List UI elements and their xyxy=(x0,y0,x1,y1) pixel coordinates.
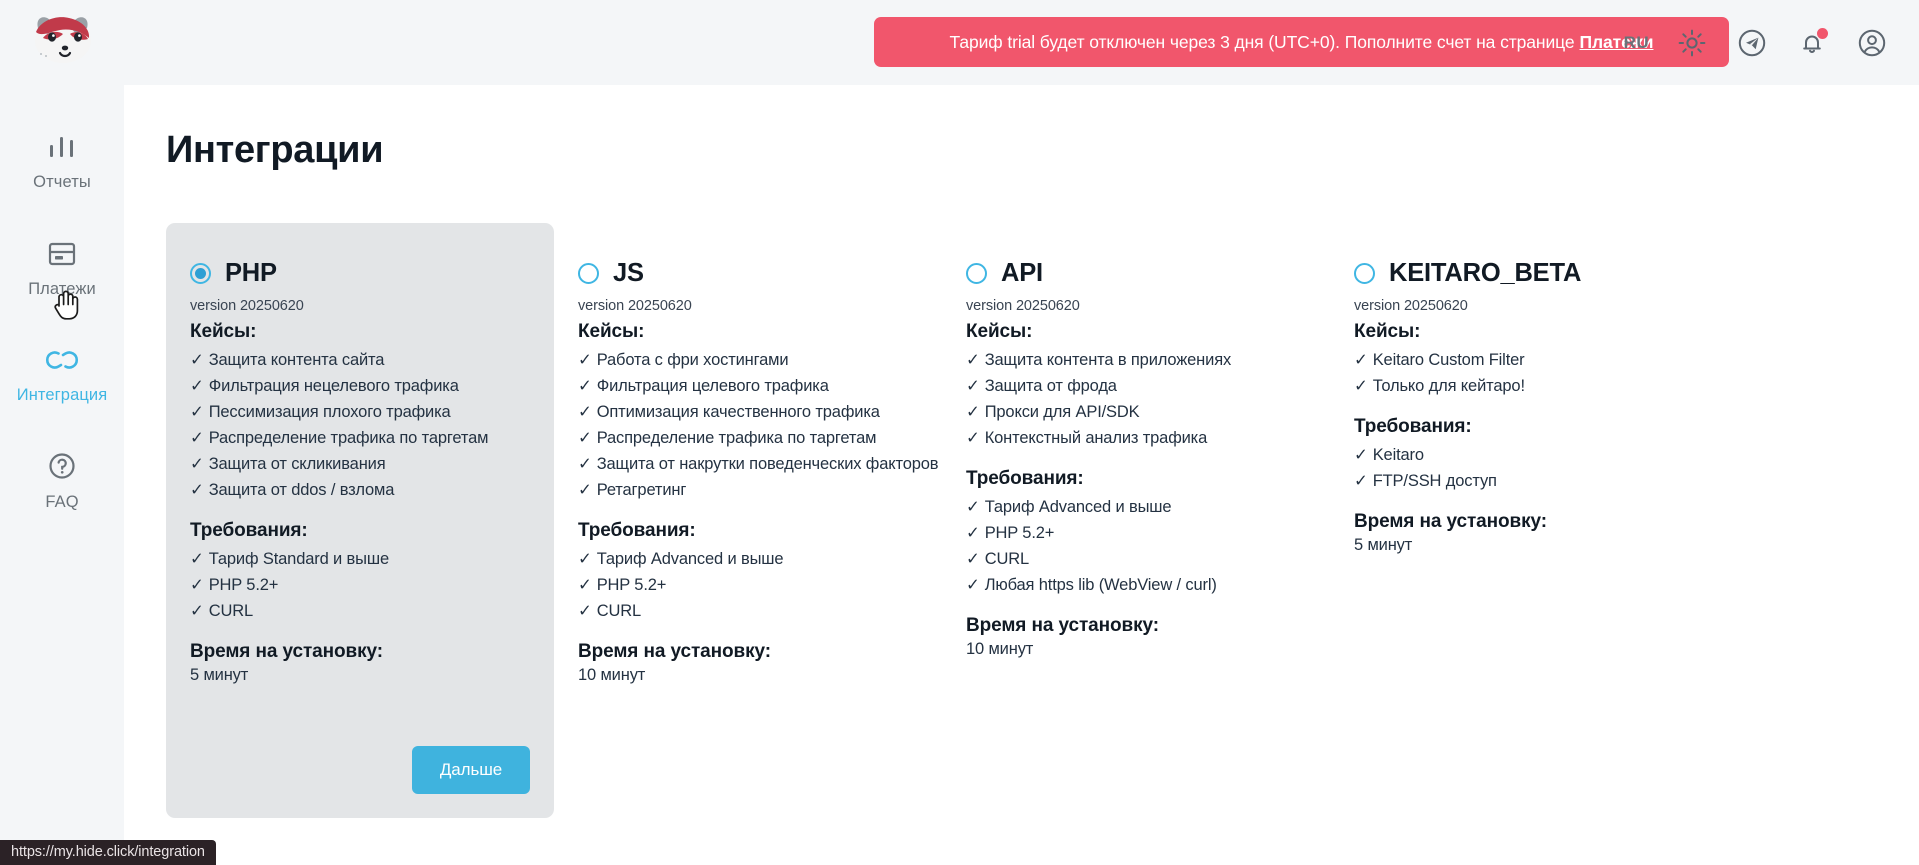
check-icon: ✓ xyxy=(578,403,592,421)
cases-list: ✓Keitaro Custom Filter ✓Только для кейта… xyxy=(1354,347,1694,399)
list-item: ✓Оптимизация качественного трафика xyxy=(578,399,918,425)
list-item: ✓Тариф Advanced и выше xyxy=(578,546,918,572)
check-icon: ✓ xyxy=(1354,351,1368,369)
install-time-heading: Время на установку: xyxy=(966,615,1306,637)
list-item: ✓Любая https lib (WebView / curl) xyxy=(966,572,1306,598)
card-title: KEITARO_BETA xyxy=(1389,259,1581,288)
check-icon: ✓ xyxy=(578,429,592,447)
raccoon-logo-icon xyxy=(27,8,97,66)
radio-js[interactable] xyxy=(578,263,599,284)
list-item: ✓PHP 5.2+ xyxy=(578,572,918,598)
sidebar-item-label: Отчеты xyxy=(33,174,91,191)
sidebar-nav: Отчеты Платежи xyxy=(0,118,124,544)
notification-badge-dot xyxy=(1817,28,1828,39)
sidebar-item-faq[interactable]: FAQ xyxy=(0,438,124,519)
bar-chart-icon xyxy=(45,128,79,166)
check-icon: ✓ xyxy=(190,576,204,594)
card-header: API xyxy=(966,259,1306,288)
application-window: Отчеты Платежи xyxy=(0,0,1919,865)
list-item: ✓PHP 5.2+ xyxy=(190,572,530,598)
check-icon: ✓ xyxy=(966,550,980,568)
list-item: ✓Keitaro Custom Filter xyxy=(1354,347,1694,373)
install-time-value: 5 минут xyxy=(1354,536,1694,555)
check-icon: ✓ xyxy=(966,524,980,542)
check-icon: ✓ xyxy=(966,377,980,395)
list-item: ✓PHP 5.2+ xyxy=(966,520,1306,546)
check-icon: ✓ xyxy=(1354,377,1368,395)
requirements-heading: Требования: xyxy=(190,520,530,542)
integration-card-js[interactable]: JS version 20250620 Кейсы: ✓Работа с фри… xyxy=(554,223,942,818)
check-icon: ✓ xyxy=(966,576,980,594)
list-item: ✓Фильтрация целевого трафика xyxy=(578,373,918,399)
sidebar-item-platezhi[interactable]: Платежи xyxy=(0,225,124,306)
list-item: ✓Тариф Standard и выше xyxy=(190,546,530,572)
check-icon: ✓ xyxy=(966,429,980,447)
language-switcher[interactable]: RU xyxy=(1624,33,1649,53)
cases-heading: Кейсы: xyxy=(966,321,1306,343)
check-icon: ✓ xyxy=(1354,446,1368,464)
integration-card-api[interactable]: API version 20250620 Кейсы: ✓Защита конт… xyxy=(942,223,1330,818)
user-account-icon[interactable] xyxy=(1855,26,1889,60)
check-icon: ✓ xyxy=(190,377,204,395)
list-item: ✓Работа с фри хостингами xyxy=(578,347,918,373)
cases-list: ✓Защита контента сайта ✓Фильтрация нецел… xyxy=(190,347,530,503)
cases-heading: Кейсы: xyxy=(190,321,530,343)
list-item: ✓Защита контента сайта xyxy=(190,347,530,373)
check-icon: ✓ xyxy=(190,455,204,473)
check-icon: ✓ xyxy=(966,403,980,421)
sidebar-item-otchety[interactable]: Отчеты xyxy=(0,118,124,199)
sidebar: Отчеты Платежи xyxy=(0,0,124,865)
card-title: JS xyxy=(613,259,644,288)
list-item: ✓Защита от фрода xyxy=(966,373,1306,399)
browser-status-bar-url: https://my.hide.click/integration xyxy=(0,840,216,865)
install-time-heading: Время на установку: xyxy=(578,641,918,663)
radio-keitaro-beta[interactable] xyxy=(1354,263,1375,284)
cases-heading: Кейсы: xyxy=(1354,321,1694,343)
list-item: ✓Пессимизация плохого трафика xyxy=(190,399,530,425)
list-item: ✓Тариф Advanced и выше xyxy=(966,494,1306,520)
requirements-list: ✓Keitaro ✓FTP/SSH доступ xyxy=(1354,442,1694,494)
list-item: ✓CURL xyxy=(190,598,530,624)
list-item: ✓Keitaro xyxy=(1354,442,1694,468)
check-icon: ✓ xyxy=(578,377,592,395)
integration-card-keitaro-beta[interactable]: KEITARO_BETA version 20250620 Кейсы: ✓Ke… xyxy=(1330,223,1718,818)
sidebar-item-label: Платежи xyxy=(28,281,96,298)
check-icon: ✓ xyxy=(966,498,980,516)
check-icon: ✓ xyxy=(190,429,204,447)
install-time-value: 5 минут xyxy=(190,666,530,685)
check-icon: ✓ xyxy=(578,576,592,594)
radio-php[interactable] xyxy=(190,263,211,284)
trial-expiry-alert[interactable]: Тариф trial будет отключен через 3 дня (… xyxy=(874,17,1729,67)
check-icon: ✓ xyxy=(578,481,592,499)
check-icon: ✓ xyxy=(190,602,204,620)
install-time-value: 10 минут xyxy=(966,640,1306,659)
list-item: ✓FTP/SSH доступ xyxy=(1354,468,1694,494)
list-item: ✓Распределение трафика по таргетам xyxy=(578,425,918,451)
brightness-sun-icon[interactable] xyxy=(1675,26,1709,60)
radio-api[interactable] xyxy=(966,263,987,284)
page-title: Интеграции xyxy=(166,129,383,172)
card-version: version 20250620 xyxy=(1354,298,1694,314)
list-item: ✓CURL xyxy=(578,598,918,624)
list-item: ✓Защита от ddos / взлома xyxy=(190,477,530,503)
notifications-bell-icon[interactable] xyxy=(1795,26,1829,60)
next-button[interactable]: Дальше xyxy=(412,746,530,794)
question-circle-icon xyxy=(45,448,79,486)
requirements-list: ✓Тариф Advanced и выше ✓PHP 5.2+ ✓CURL ✓… xyxy=(966,494,1306,598)
topbar-actions: RU xyxy=(1624,0,1889,85)
card-version: version 20250620 xyxy=(966,298,1306,314)
list-item: ✓Ретагретинг xyxy=(578,477,918,503)
list-item: ✓Защита от накрутки поведенческих фактор… xyxy=(578,451,918,477)
list-item: ✓CURL xyxy=(966,546,1306,572)
card-title: PHP xyxy=(225,259,277,288)
list-item: ✓Прокси для API/SDK xyxy=(966,399,1306,425)
card-header: PHP xyxy=(190,259,530,288)
list-item: ✓Контекстный анализ трафика xyxy=(966,425,1306,451)
check-icon: ✓ xyxy=(578,602,592,620)
install-time-heading: Время на установку: xyxy=(1354,511,1694,533)
integration-cards: PHP version 20250620 Кейсы: ✓Защита конт… xyxy=(166,223,1919,818)
card-header: JS xyxy=(578,259,918,288)
sidebar-item-label: FAQ xyxy=(45,494,78,511)
integration-card-php[interactable]: PHP version 20250620 Кейсы: ✓Защита конт… xyxy=(166,223,554,818)
cases-list: ✓Защита контента в приложениях ✓Защита о… xyxy=(966,347,1306,451)
topbar: Тариф trial будет отключен через 3 дня (… xyxy=(124,0,1919,85)
requirements-list: ✓Тариф Advanced и выше ✓PHP 5.2+ ✓CURL xyxy=(578,546,918,624)
check-icon: ✓ xyxy=(578,455,592,473)
requirements-heading: Требования: xyxy=(578,520,918,542)
sidebar-item-integraciya[interactable]: Интеграция xyxy=(0,331,124,412)
card-version: version 20250620 xyxy=(190,298,530,314)
install-time-value: 10 минут xyxy=(578,666,918,685)
install-time-heading: Время на установку: xyxy=(190,641,530,663)
main-content: Интеграции PHP version 20250620 Кейсы: ✓… xyxy=(124,85,1919,865)
sidebar-item-label: Интеграция xyxy=(17,387,108,404)
credit-card-icon xyxy=(45,235,79,273)
check-icon: ✓ xyxy=(190,550,204,568)
card-version: version 20250620 xyxy=(578,298,918,314)
check-icon: ✓ xyxy=(578,550,592,568)
check-icon: ✓ xyxy=(190,481,204,499)
requirements-heading: Требования: xyxy=(966,468,1306,490)
list-item: ✓Распределение трафика по таргетам xyxy=(190,425,530,451)
card-header: KEITARO_BETA xyxy=(1354,259,1694,288)
list-item: ✓Фильтрация нецелевого трафика xyxy=(190,373,530,399)
cases-list: ✓Работа с фри хостингами ✓Фильтрация цел… xyxy=(578,347,918,503)
list-item: ✓Защита от скликивания xyxy=(190,451,530,477)
list-item: ✓Только для кейтаро! xyxy=(1354,373,1694,399)
check-icon: ✓ xyxy=(966,351,980,369)
card-title: API xyxy=(1001,259,1043,288)
cases-heading: Кейсы: xyxy=(578,321,918,343)
check-icon: ✓ xyxy=(190,403,204,421)
requirements-heading: Требования: xyxy=(1354,416,1694,438)
check-icon: ✓ xyxy=(1354,472,1368,490)
link-chain-icon xyxy=(44,341,80,379)
list-item: ✓Защита контента в приложениях xyxy=(966,347,1306,373)
requirements-list: ✓Тариф Standard и выше ✓PHP 5.2+ ✓CURL xyxy=(190,546,530,624)
raccoon-logo[interactable] xyxy=(27,8,97,66)
alert-text: Тариф trial будет отключен через 3 дня (… xyxy=(950,32,1575,53)
telegram-icon[interactable] xyxy=(1735,26,1769,60)
check-icon: ✓ xyxy=(578,351,592,369)
check-icon: ✓ xyxy=(190,351,204,369)
